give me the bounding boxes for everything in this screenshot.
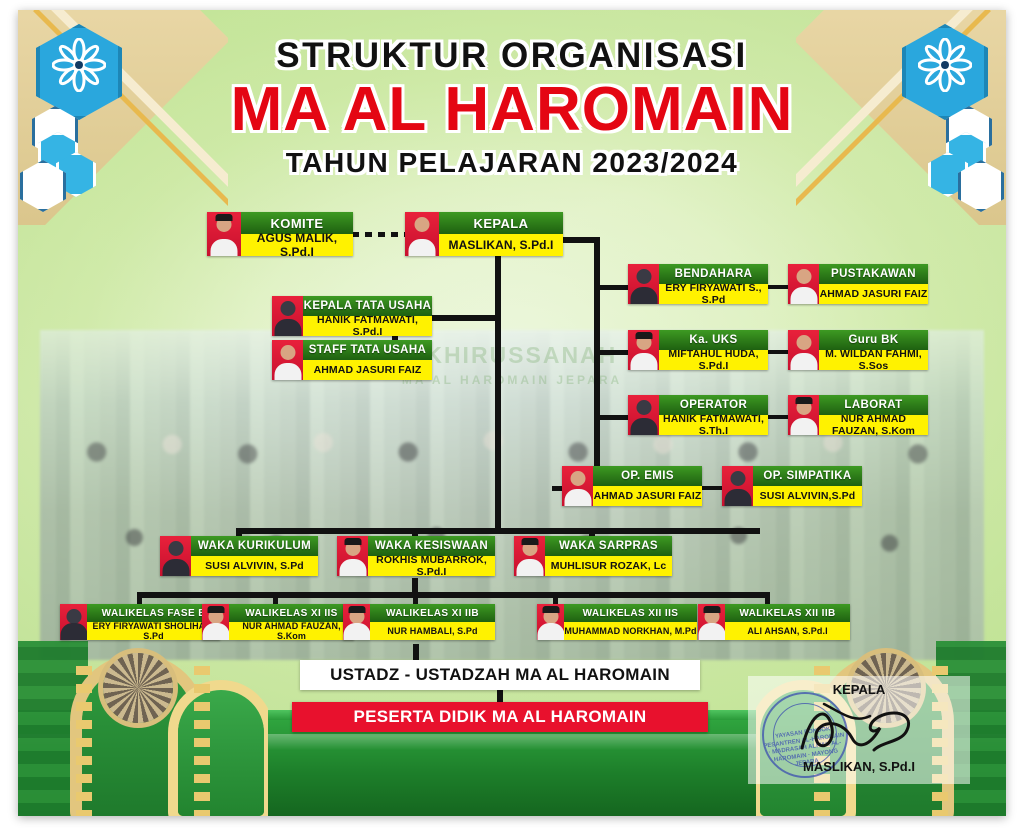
avatar: [343, 604, 370, 640]
node-name: ERY FIRYAWATI S., S.Pd: [659, 284, 768, 304]
node-walikelas-xii-iib[interactable]: WALIKELAS XII IIB ALI AHSAN, S.Pd.I: [698, 604, 850, 640]
node-staff-tata-usaha[interactable]: STAFF TATA USAHA AHMAD JASURI FAIZ: [272, 340, 432, 380]
avatar: [207, 212, 241, 256]
signature-block: KEPALA YAYASAN PONDOK PESANTREN AL-HAROM…: [748, 676, 970, 784]
node-name: ALI AHSAN, S.Pd.I: [725, 622, 850, 640]
node-name: MIFTAHUL HUDA, S.Pd.I: [659, 350, 768, 370]
node-laborat[interactable]: LABORAT NUR AHMAD FAUZAN, S.Kom: [788, 395, 928, 435]
node-bendahara[interactable]: BENDAHARA ERY FIRYAWATI S., S.Pd: [628, 264, 768, 304]
node-op-simpatika[interactable]: OP. SIMPATIKA SUSI ALVIVIN,S.Pd: [722, 466, 862, 506]
connector-walikelas-bus: [137, 592, 770, 598]
connector-right-branch-bendahara: [594, 285, 632, 290]
banner-students[interactable]: PESERTA DIDIK MA AL HAROMAIN: [292, 702, 708, 732]
avatar: [628, 330, 659, 370]
node-kepala[interactable]: KEPALA MASLIKAN, S.Pd.I: [405, 212, 563, 256]
node-role: WALIKELAS XII IIS: [564, 604, 697, 622]
node-operator[interactable]: OPERATOR HANIK FATMAWATI, S.Th.I: [628, 395, 768, 435]
node-name: AHMAD JASURI FAIZ: [593, 486, 702, 506]
avatar: [788, 395, 819, 435]
avatar: [562, 466, 593, 506]
node-ka-uks[interactable]: Ka. UKS MIFTAHUL HUDA, S.Pd.I: [628, 330, 768, 370]
connector-waka-bus: [236, 528, 760, 534]
node-role: WALIKELAS XI IIS: [229, 604, 354, 622]
poster-title-block: STRUKTUR ORGANISASI MA AL HAROMAIN TAHUN…: [0, 36, 1024, 179]
connector-right-branch-uks: [594, 350, 632, 355]
avatar: [788, 264, 819, 304]
connector-komite-kepala: [352, 232, 406, 237]
node-name: MASLIKAN, S.Pd.I: [439, 234, 563, 256]
node-walikelas-fase-e[interactable]: WALIKELAS FASE E ERY FIRYAWATI SHOLIHAH,…: [60, 604, 220, 640]
connector-main-spine: [495, 253, 501, 533]
signature-scribble: [794, 698, 924, 760]
avatar: [160, 536, 191, 576]
node-komite[interactable]: KOMITE AGUS MALIK, S.Pd.I: [207, 212, 353, 256]
avatar: [405, 212, 439, 256]
node-name: AHMAD JASURI FAIZ: [819, 284, 928, 304]
node-role: WALIKELAS XI IIB: [370, 604, 495, 622]
avatar: [202, 604, 229, 640]
banner-teachers[interactable]: USTADZ - USTADZAH MA AL HAROMAIN: [300, 660, 700, 690]
node-name: AGUS MALIK, S.Pd.I: [241, 234, 353, 256]
node-role: KEPALA: [439, 212, 563, 234]
node-name: SUSI ALVIVIN, S.Pd: [191, 556, 318, 576]
avatar: [537, 604, 564, 640]
avatar: [60, 604, 87, 640]
avatar: [722, 466, 753, 506]
node-waka-kesiswaan[interactable]: WAKA KESISWAAN ROKHIS MUBARROK, S.Pd.I: [337, 536, 495, 576]
connector-pair-uks-bk: [766, 350, 790, 354]
node-name: NUR AHMAD FAUZAN, S.Kom: [229, 622, 354, 640]
node-walikelas-xii-iis[interactable]: WALIKELAS XII IIS MUHAMMAD NORKHAN, M.Pd: [537, 604, 697, 640]
connector-right-branch-operator: [594, 415, 632, 420]
node-walikelas-xi-iib[interactable]: WALIKELAS XI IIB NUR HAMBALI, S.Pd: [343, 604, 495, 640]
node-role: WALIKELAS FASE E: [87, 604, 220, 622]
node-role: PUSTAKAWAN: [819, 264, 928, 284]
node-role: WAKA KESISWAAN: [368, 536, 495, 556]
node-walikelas-xi-iis[interactable]: WALIKELAS XI IIS NUR AHMAD FAUZAN, S.Kom: [202, 604, 354, 640]
node-name: HANIK FATMAWATI, S.Pd.I: [303, 316, 432, 336]
signature-name: MASLIKAN, S.Pd.I: [748, 759, 970, 774]
background-caption-subtext: MA AL HAROMAIN JEPARA: [0, 373, 1024, 387]
node-name: NUR HAMBALI, S.Pd: [370, 622, 495, 640]
node-name: M. WILDAN FAHMI, S.Sos: [819, 350, 928, 370]
avatar: [337, 536, 368, 576]
avatar: [272, 340, 303, 380]
node-role: Ka. UKS: [659, 330, 768, 350]
node-role: KEPALA TATA USAHA: [303, 296, 432, 316]
rosette-icon: [103, 653, 173, 723]
title-line-2: MA AL HAROMAIN: [0, 78, 1024, 141]
node-name: HANIK FATMAWATI, S.Th.I: [659, 415, 768, 435]
node-role: OP. SIMPATIKA: [753, 466, 862, 486]
node-name: NUR AHMAD FAUZAN, S.Kom: [819, 415, 928, 435]
node-name: SUSI ALVIVIN,S.Pd: [753, 486, 862, 506]
node-kepala-tata-usaha[interactable]: KEPALA TATA USAHA HANIK FATMAWATI, S.Pd.…: [272, 296, 432, 336]
node-role: BENDAHARA: [659, 264, 768, 284]
connector-pair-bendahara-pustakawan: [766, 285, 790, 289]
avatar: [514, 536, 545, 576]
node-waka-sarpras[interactable]: WAKA SARPRAS MUHLISUR ROZAK, Lc: [514, 536, 672, 576]
node-name: MUHLISUR ROZAK, Lc: [545, 556, 672, 576]
node-role: WAKA SARPRAS: [545, 536, 672, 556]
node-pustakawan[interactable]: PUSTAKAWAN AHMAD JASURI FAIZ: [788, 264, 928, 304]
avatar: [272, 296, 303, 336]
avatar: [788, 330, 819, 370]
signature-title: KEPALA: [748, 682, 970, 697]
node-op-emis[interactable]: OP. EMIS AHMAD JASURI FAIZ: [562, 466, 702, 506]
connector-pair-operator-laborat: [766, 415, 790, 419]
avatar: [628, 264, 659, 304]
node-name: MUHAMMAD NORKHAN, M.Pd: [564, 622, 697, 640]
node-role: WAKA KURIKULUM: [191, 536, 318, 556]
avatar: [698, 604, 725, 640]
title-line-3: TAHUN PELAJARAN 2023/2024: [0, 147, 1024, 179]
organizational-chart-poster: AKHIRUSSANAH MA AL HAROMAIN JEPARA: [0, 0, 1024, 828]
node-name: ERY FIRYAWATI SHOLIHAH, S.Pd: [87, 622, 220, 640]
node-role: WALIKELAS XII IIB: [725, 604, 850, 622]
node-role: OPERATOR: [659, 395, 768, 415]
node-name: ROKHIS MUBARROK, S.Pd.I: [368, 556, 495, 576]
background-caption-text: AKHIRUSSANAH: [407, 342, 618, 368]
node-role: Guru BK: [819, 330, 928, 350]
node-name: AHMAD JASURI FAIZ: [303, 360, 432, 380]
avatar: [628, 395, 659, 435]
mosque-ornament-left: [18, 641, 268, 816]
connector-right-trunk-v: [594, 237, 600, 489]
node-guru-bk[interactable]: Guru BK M. WILDAN FAHMI, S.Sos: [788, 330, 928, 370]
node-role: OP. EMIS: [593, 466, 702, 486]
title-line-1: STRUKTUR ORGANISASI: [0, 36, 1024, 76]
node-role: STAFF TATA USAHA: [303, 340, 432, 360]
node-waka-kurikulum[interactable]: WAKA KURIKULUM SUSI ALVIVIN, S.Pd: [160, 536, 318, 576]
connector-pair-emis-simpatika: [700, 486, 724, 490]
node-role: LABORAT: [819, 395, 928, 415]
